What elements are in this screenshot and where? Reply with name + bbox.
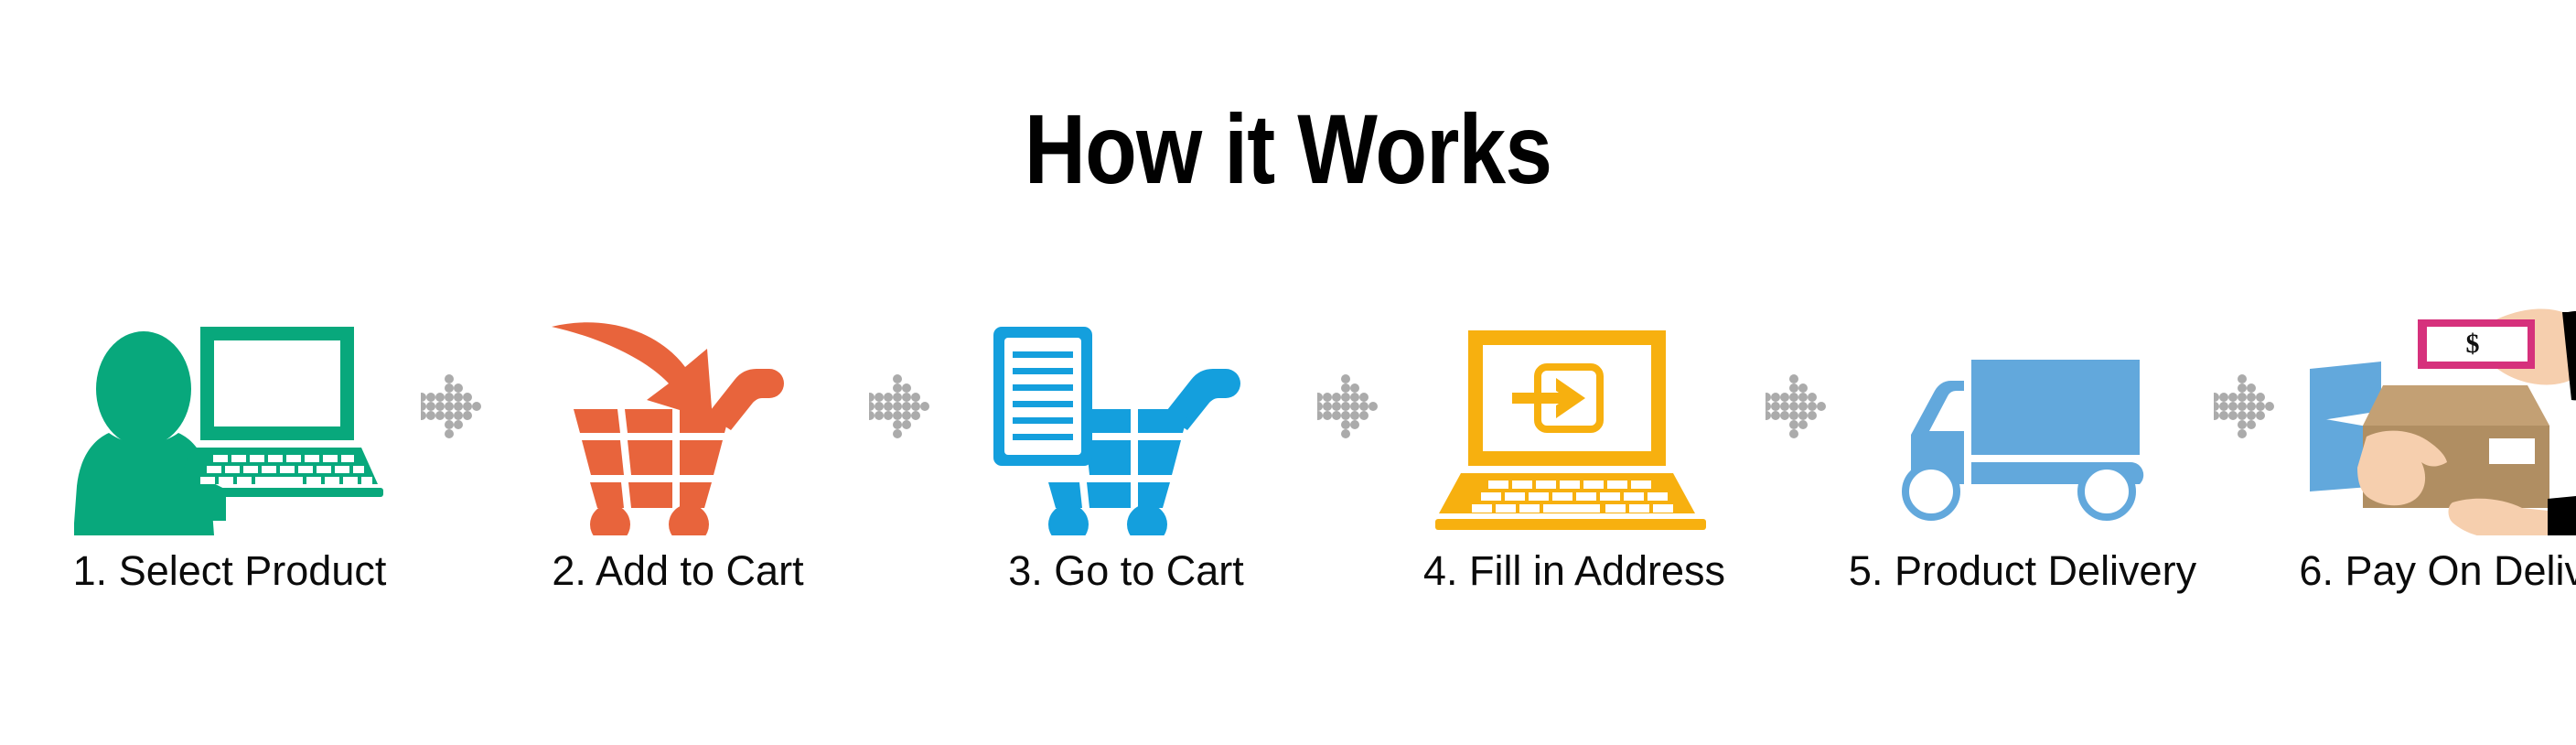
separator-1 <box>417 302 490 632</box>
dotted-arrow-right-icon <box>869 373 935 439</box>
step-4-fill-in-address[interactable]: 4. Fill in Address <box>1387 302 1762 632</box>
document-with-cart-icon <box>984 307 1268 535</box>
step-2-add-to-cart[interactable]: 2. Add to Cart <box>490 302 865 632</box>
step-4-artwork <box>1387 302 1762 535</box>
step-5-artwork <box>1835 302 2210 535</box>
separator-4 <box>1762 302 1835 632</box>
step-2-label: 2. Add to Cart <box>490 547 865 595</box>
separator-3 <box>1314 302 1387 632</box>
separator-5 <box>2210 302 2283 632</box>
step-6-artwork: $ <box>2283 302 2576 535</box>
box-top <box>2363 385 2549 426</box>
laptop-screen <box>214 340 340 426</box>
steps-row: 1. Select Product <box>0 302 2576 632</box>
box-label <box>2489 438 2535 464</box>
step-3-go-to-cart[interactable]: 3. Go to Cart <box>939 302 1314 632</box>
step-5-label: 5. Product Delivery <box>1835 547 2210 595</box>
step-3-label: 3. Go to Cart <box>939 547 1314 595</box>
step-1-label: 1. Select Product <box>42 547 417 595</box>
step-1-artwork <box>42 302 417 535</box>
dotted-arrow-right-icon <box>421 373 487 439</box>
dotted-arrow-right-icon <box>1317 373 1383 439</box>
truck-wheel-rear <box>2081 466 2132 517</box>
shopping-cart-with-arrow-icon <box>541 307 815 535</box>
how-it-works-infographic: How it Works <box>0 0 2576 745</box>
page-title: How it Works <box>180 99 2396 200</box>
laptop-with-login-arrow-icon <box>1432 325 1717 535</box>
step-5-product-delivery[interactable]: 5. Product Delivery <box>1835 302 2210 632</box>
step-3-artwork <box>939 302 1314 535</box>
money-bill: $ <box>2418 319 2535 369</box>
hands-exchanging-box-and-money-icon: $ <box>2310 299 2576 535</box>
lower-sleeve <box>2548 493 2576 535</box>
money-symbol: $ <box>2466 329 2480 359</box>
separator-2 <box>865 302 939 632</box>
person-with-laptop-icon <box>74 307 385 535</box>
dotted-arrow-right-icon <box>2214 373 2280 439</box>
step-1-select-product[interactable]: 1. Select Product <box>42 302 417 632</box>
truck-wheel-front <box>1905 466 1957 517</box>
step-6-pay-on-delivery[interactable]: $ 6. Pay <box>2283 302 2576 632</box>
step-4-label: 4. Fill in Address <box>1387 547 1762 595</box>
step-2-artwork <box>490 302 865 535</box>
dotted-arrow-right-icon <box>1766 373 1831 439</box>
step-6-label: 6. Pay On Delivery <box>2283 547 2576 595</box>
delivery-truck-icon <box>1876 343 2169 535</box>
laptop-keyboard <box>200 455 372 484</box>
